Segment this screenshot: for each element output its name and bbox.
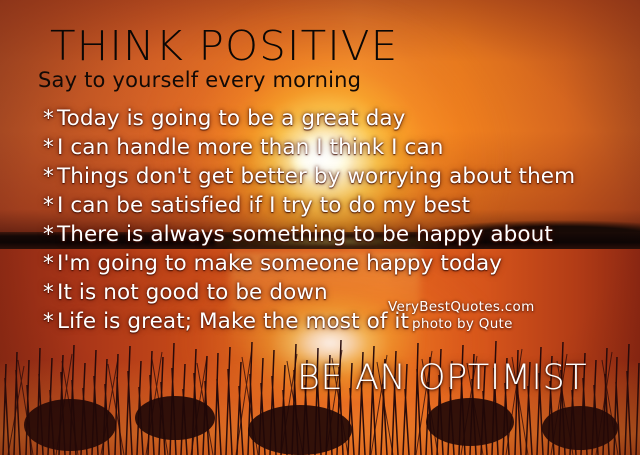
list-item-label: There is always something to be happy ab…	[57, 222, 553, 247]
list-item-label: Things don't get better by worrying abou…	[57, 164, 575, 189]
page-title: THINK POSITIVE	[50, 22, 398, 70]
list-item: *I can handle more than I think I can	[0, 133, 640, 162]
positive-affirmation-poster: THINK POSITIVE Say to yourself every mor…	[0, 0, 640, 455]
list-item-label: I'm going to make someone happy today	[57, 251, 502, 276]
bullet-marker: *	[43, 220, 57, 249]
list-item: *I'm going to make someone happy today	[0, 249, 640, 278]
list-item-label: I can handle more than I think I can	[57, 135, 443, 160]
list-item: *Life is great; Make the most of it	[0, 307, 640, 336]
bullet-marker: *	[43, 278, 57, 307]
bullet-marker: *	[43, 249, 57, 278]
list-item: *There is always something to be happy a…	[0, 220, 640, 249]
watermark-photo-credit: photo by Qute	[412, 316, 513, 332]
bullet-marker: *	[43, 104, 57, 133]
list-item-label: Today is going to be a great day	[57, 106, 405, 131]
list-item-label: It is not good to be down	[57, 280, 328, 305]
list-item: *It is not good to be down	[0, 278, 640, 307]
list-item-label: I can be satisfied if I try to do my bes…	[57, 193, 470, 218]
list-item: *I can be satisfied if I try to do my be…	[0, 191, 640, 220]
list-item-label: Life is great; Make the most of it	[57, 309, 409, 334]
bullet-marker: *	[43, 133, 57, 162]
bullet-marker: *	[43, 191, 57, 220]
list-item: *Things don't get better by worrying abo…	[0, 162, 640, 191]
bullet-marker: *	[43, 307, 57, 336]
watermark-site: VeryBestQuotes.com	[388, 299, 535, 315]
list-item: *Today is going to be a great day	[0, 104, 640, 133]
closing-statement: BE AN OPTIMIST	[297, 358, 587, 398]
affirmation-list: *Today is going to be a great day *I can…	[0, 104, 640, 336]
page-subtitle: Say to yourself every morning	[38, 68, 361, 92]
bullet-marker: *	[43, 162, 57, 191]
